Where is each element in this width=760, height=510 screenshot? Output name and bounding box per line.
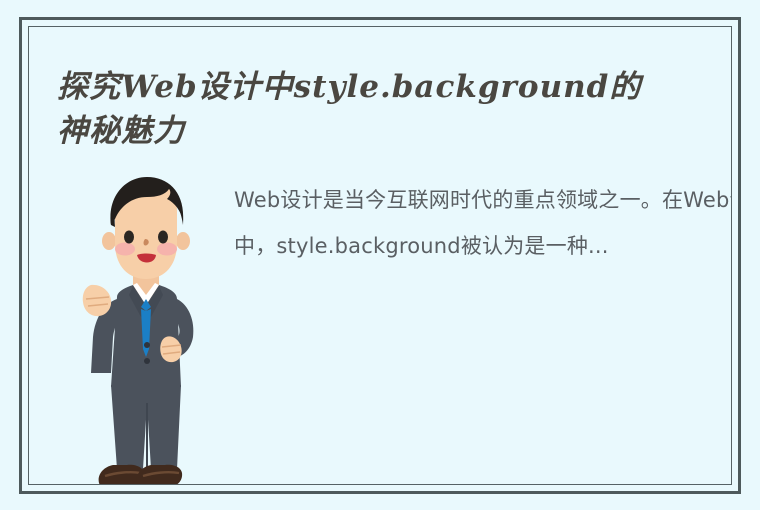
illustration-businessman <box>71 177 221 485</box>
page-title: 探究Web设计中style.background的神秘魅力 <box>57 65 667 153</box>
body-paragraph: Web设计是当今互联网时代的重点领域之一。在Web设计中，style.backg… <box>234 177 732 269</box>
content-card-inner-frame: 探究Web设计中style.background的神秘魅力 <box>28 26 732 485</box>
businessman-icon <box>71 177 221 485</box>
content-card: 探究Web设计中style.background的神秘魅力 <box>19 17 741 494</box>
